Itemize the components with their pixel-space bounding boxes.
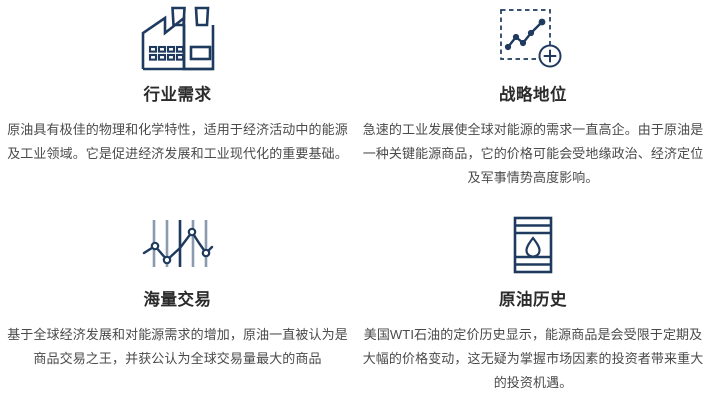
factory-icon-wrap [4, 0, 351, 78]
card-title: 战略地位 [499, 87, 567, 104]
chart-add-icon [497, 7, 569, 71]
card-body: 美国WTI石油的定价历史显示，能源商品是会受限于定期及大幅的价格变动，这无疑为掌… [360, 323, 706, 395]
card-body: 急速的工业发展使全球对能源的需求一直高企。由于原油是一种关键能源商品，它的价格可… [360, 118, 706, 190]
feature-card-strategic-position: 战略地位 急速的工业发展使全球对能源的需求一直高企。由于原油是一种关键能源商品，… [355, 0, 711, 207]
oil-barrel-icon [508, 214, 558, 276]
card-title: 原油历史 [499, 292, 567, 309]
factory-icon [139, 5, 217, 73]
card-body: 原油具有极佳的物理和化学特性，适用于经济活动中的能源及工业领域。它是促进经济发展… [5, 118, 351, 166]
oil-barrel-icon-wrap [359, 207, 707, 283]
card-title: 行业需求 [144, 87, 212, 104]
feature-grid: 行业需求 原油具有极佳的物理和化学特性，适用于经济活动中的能源及工业领域。它是促… [0, 0, 711, 414]
feature-card-industry-demand: 行业需求 原油具有极佳的物理和化学特性，适用于经济活动中的能源及工业领域。它是促… [0, 0, 355, 207]
card-body: 基于全球经济发展和对能源需求的增加，原油一直被认为是商品交易之王，并获公认为全球… [5, 323, 351, 371]
feature-card-trading-volume: 海量交易 基于全球经济发展和对能源需求的增加，原油一直被认为是商品交易之王，并获… [0, 207, 355, 414]
volume-chart-icon-wrap [4, 207, 351, 283]
chart-add-icon-wrap [359, 0, 707, 78]
volume-chart-icon [142, 215, 214, 275]
card-title: 海量交易 [144, 292, 212, 309]
feature-card-oil-history: 原油历史 美国WTI石油的定价历史显示，能源商品是会受限于定期及大幅的价格变动，… [355, 207, 711, 414]
